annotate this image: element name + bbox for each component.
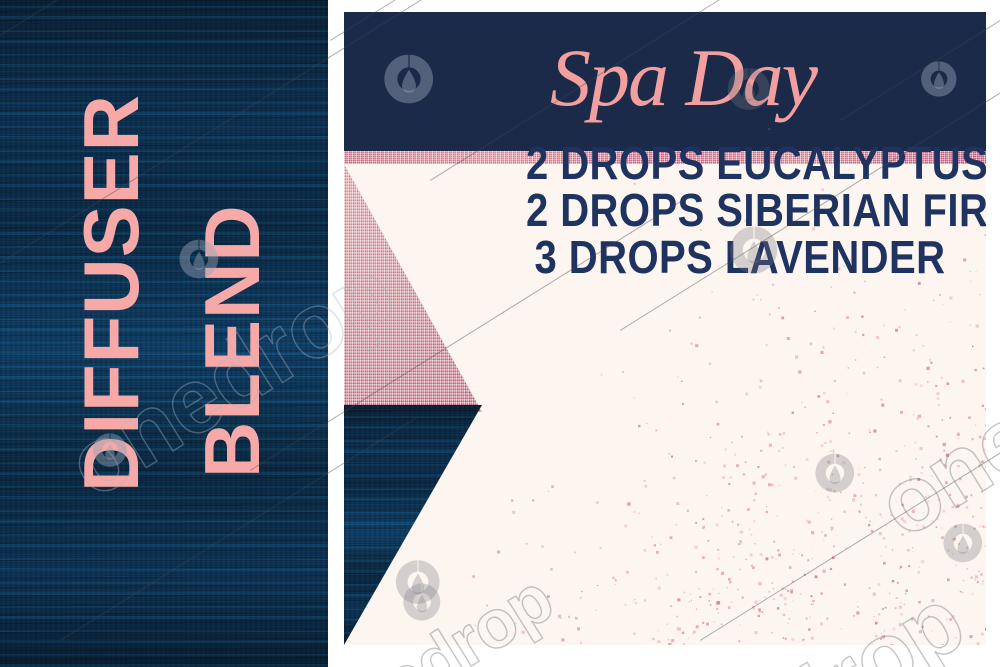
pink-confetti-scatter <box>344 12 986 645</box>
recipe-line-2: 2 DROPS SIBERIAN FIR <box>526 187 954 234</box>
left-navy-panel: DIFFUSER BLEND <box>0 0 328 667</box>
recipe-card: Spa Day 2 DROPS EUCALYPTUS 2 DROPS SIBER… <box>344 12 986 645</box>
recipe-line-1: 2 DROPS EUCALYPTUS <box>526 140 954 187</box>
vertical-title-diffuser: DIFFUSER <box>72 94 150 492</box>
recipe-line-3: 3 DROPS LAVENDER <box>526 234 954 281</box>
vertical-title-blend: BLEND <box>193 204 271 478</box>
poster-canvas: DIFFUSER BLEND Spa Day 2 DROPS EUCALYPTU… <box>0 0 1000 667</box>
recipe-text-block: 2 DROPS EUCALYPTUS 2 DROPS SIBERIAN FIR … <box>494 140 986 281</box>
vertical-title-group: DIFFUSER BLEND <box>0 0 328 667</box>
